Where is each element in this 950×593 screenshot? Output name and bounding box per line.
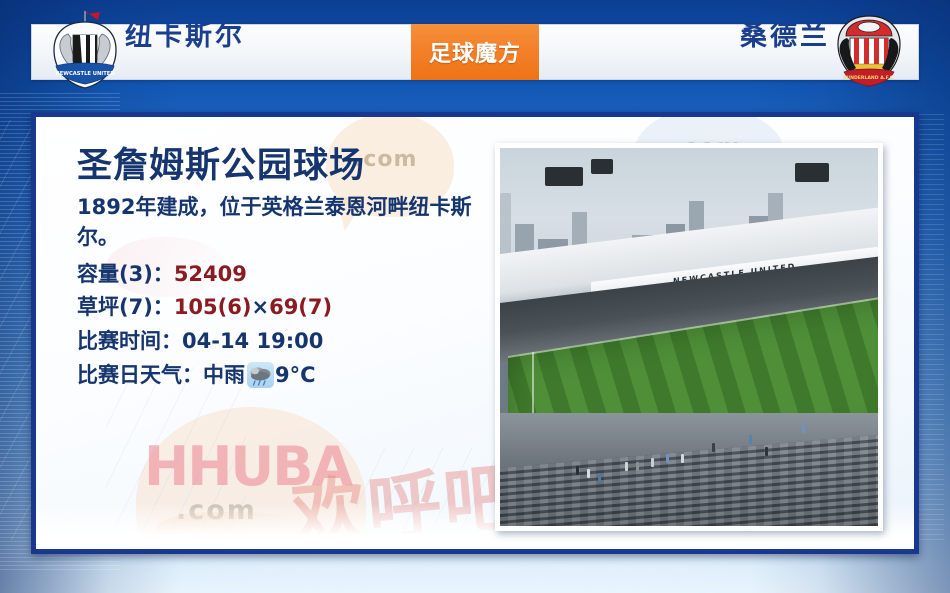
stadium-details: 圣詹姆斯公园球场 1892年建成，位于英格兰泰恩河畔纽卡斯尔。 容量(3)： 5… — [77, 147, 477, 392]
home-team-name: 纽卡斯尔 — [125, 14, 245, 53]
match-weather-label: 比赛日天气： — [77, 359, 203, 393]
stadium-title: 圣詹姆斯公园球场 — [77, 147, 477, 186]
pitch-label: 草坪(7)： — [77, 291, 174, 325]
pitch-width-value: 69(7) — [269, 291, 332, 325]
capacity-value: 52409 — [174, 258, 247, 292]
sunderland-afc-crest: SUNDERLAND A.F.C. — [832, 14, 906, 88]
match-time-label: 比赛时间： — [77, 325, 182, 359]
pitch-length-value: 105(6) — [174, 291, 252, 325]
svg-text:NEWCASTLE UNITED: NEWCASTLE UNITED — [55, 71, 115, 77]
weather-condition: 中雨 — [203, 359, 245, 393]
match-time-value: 04-14 19:00 — [182, 325, 323, 359]
temperature-value: 9°C — [275, 359, 316, 393]
stadium-photo-frame: NEWCASTLE UNITED — [495, 143, 883, 531]
capacity-row: 容量(3)： 52409 — [77, 258, 477, 292]
rain-cloud-icon — [247, 362, 274, 388]
stadium-description: 1892年建成，位于英格兰泰恩河畔纽卡斯尔。 — [77, 193, 477, 253]
stadium-info-panel: .com .com HHUBA .com 欢呼吧 圣詹姆斯公园球场 1892年建… — [31, 112, 919, 554]
match-time-row: 比赛时间： 04-14 19:00 — [77, 325, 477, 359]
away-team-name: 桑德兰 — [740, 14, 830, 53]
match-weather-row: 比赛日天气： 中雨 9°C — [77, 359, 477, 393]
capacity-label: 容量(3)： — [77, 258, 174, 292]
pitch-separator: × — [251, 291, 269, 325]
svg-text:SUNDERLAND A.F.C.: SUNDERLAND A.F.C. — [843, 75, 895, 81]
site-logo-text: 足球魔方 — [429, 36, 521, 68]
stadium-photo: NEWCASTLE UNITED — [500, 148, 878, 526]
site-logo[interactable]: 足球魔方 — [411, 24, 539, 80]
pitch-row: 草坪(7)： 105(6) × 69(7) — [77, 291, 477, 325]
newcastle-united-crest: NEWCASTLE UNITED — [46, 8, 124, 92]
